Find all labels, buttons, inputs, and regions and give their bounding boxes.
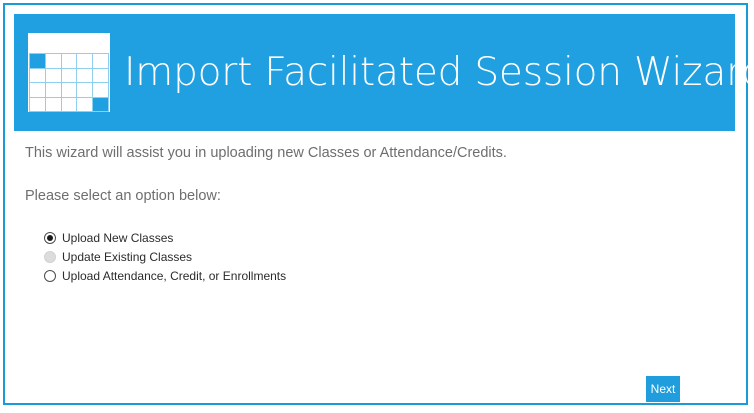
calendar-cell — [62, 54, 77, 68]
calendar-cell — [93, 54, 108, 68]
calendar-cell — [77, 69, 92, 83]
wizard-body: This wizard will assist you in uploading… — [14, 131, 735, 399]
calendar-cell — [46, 98, 61, 112]
radio-option-upload-attendance-credit-enrollments[interactable]: Upload Attendance, Credit, or Enrollment… — [44, 266, 286, 285]
calendar-cell — [46, 69, 61, 83]
calendar-cell — [30, 83, 45, 97]
radio-option-label: Update Existing Classes — [62, 250, 192, 264]
calendar-cell — [30, 69, 45, 83]
radio-option-upload-new-classes[interactable]: Upload New Classes — [44, 228, 286, 247]
calendar-cell — [93, 83, 108, 97]
radio-icon-unchecked[interactable] — [44, 251, 56, 263]
page-title: Import Facilitated Session Wizard — [124, 14, 754, 131]
wizard-window: Import Facilitated Session Wizard This w… — [3, 3, 748, 405]
radio-option-update-existing-classes[interactable]: Update Existing Classes — [44, 247, 286, 266]
radio-option-label: Upload Attendance, Credit, or Enrollment… — [62, 269, 286, 283]
calendar-cell — [62, 69, 77, 83]
radio-icon-unchecked[interactable] — [44, 270, 56, 282]
calendar-cell — [62, 98, 77, 112]
intro-text: This wizard will assist you in uploading… — [25, 145, 507, 161]
calendar-cell — [46, 54, 61, 68]
calendar-cell — [30, 98, 45, 112]
calendar-icon-grid — [29, 53, 109, 112]
options-radio-group: Upload New Classes Update Existing Class… — [44, 228, 286, 285]
prompt-text: Please select an option below: — [25, 188, 221, 204]
calendar-icon — [28, 33, 110, 112]
radio-icon-checked[interactable] — [44, 232, 56, 244]
calendar-cell — [93, 69, 108, 83]
calendar-cell — [46, 83, 61, 97]
calendar-cell — [77, 98, 92, 112]
calendar-cell — [77, 54, 92, 68]
radio-option-label: Upload New Classes — [62, 231, 173, 245]
next-button[interactable]: Next — [646, 376, 680, 402]
calendar-icon-titlebar — [28, 33, 110, 53]
wizard-header: Import Facilitated Session Wizard — [14, 14, 735, 131]
calendar-cell — [77, 83, 92, 97]
calendar-cell — [30, 54, 45, 68]
calendar-cell — [62, 83, 77, 97]
calendar-cell — [93, 98, 108, 112]
